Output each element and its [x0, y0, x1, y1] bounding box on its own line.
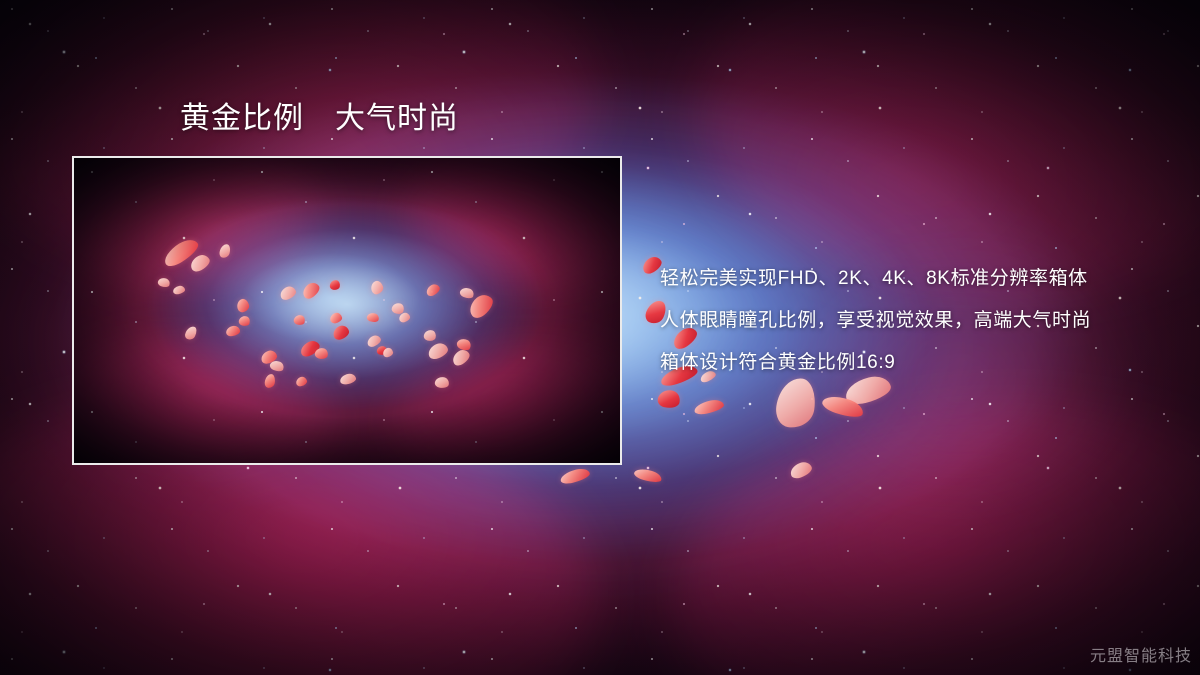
- preview-vignette: [74, 158, 620, 463]
- presentation-slide: 黄金比例 大气时尚 轻松完美实现FHD、2K、4K、8K标准分辨率箱体 人体眼睛…: [0, 0, 1200, 675]
- preview-image: [74, 158, 620, 463]
- preview-frame-16-9[interactable]: [72, 156, 622, 465]
- description-line-1: 轻松完美实现FHD、2K、4K、8K标准分辨率箱体: [660, 258, 1160, 300]
- company-watermark: 元盟智能科技: [1090, 647, 1192, 667]
- description-text-block: 轻松完美实现FHD、2K、4K、8K标准分辨率箱体 人体眼睛瞳孔比例，享受视觉效…: [660, 258, 1160, 384]
- description-line-2: 人体眼睛瞳孔比例，享受视觉效果，高端大气时尚: [660, 300, 1160, 342]
- page-title: 黄金比例 大气时尚: [180, 101, 459, 137]
- description-line-3: 箱体设计符合黄金比例16:9: [660, 342, 1160, 384]
